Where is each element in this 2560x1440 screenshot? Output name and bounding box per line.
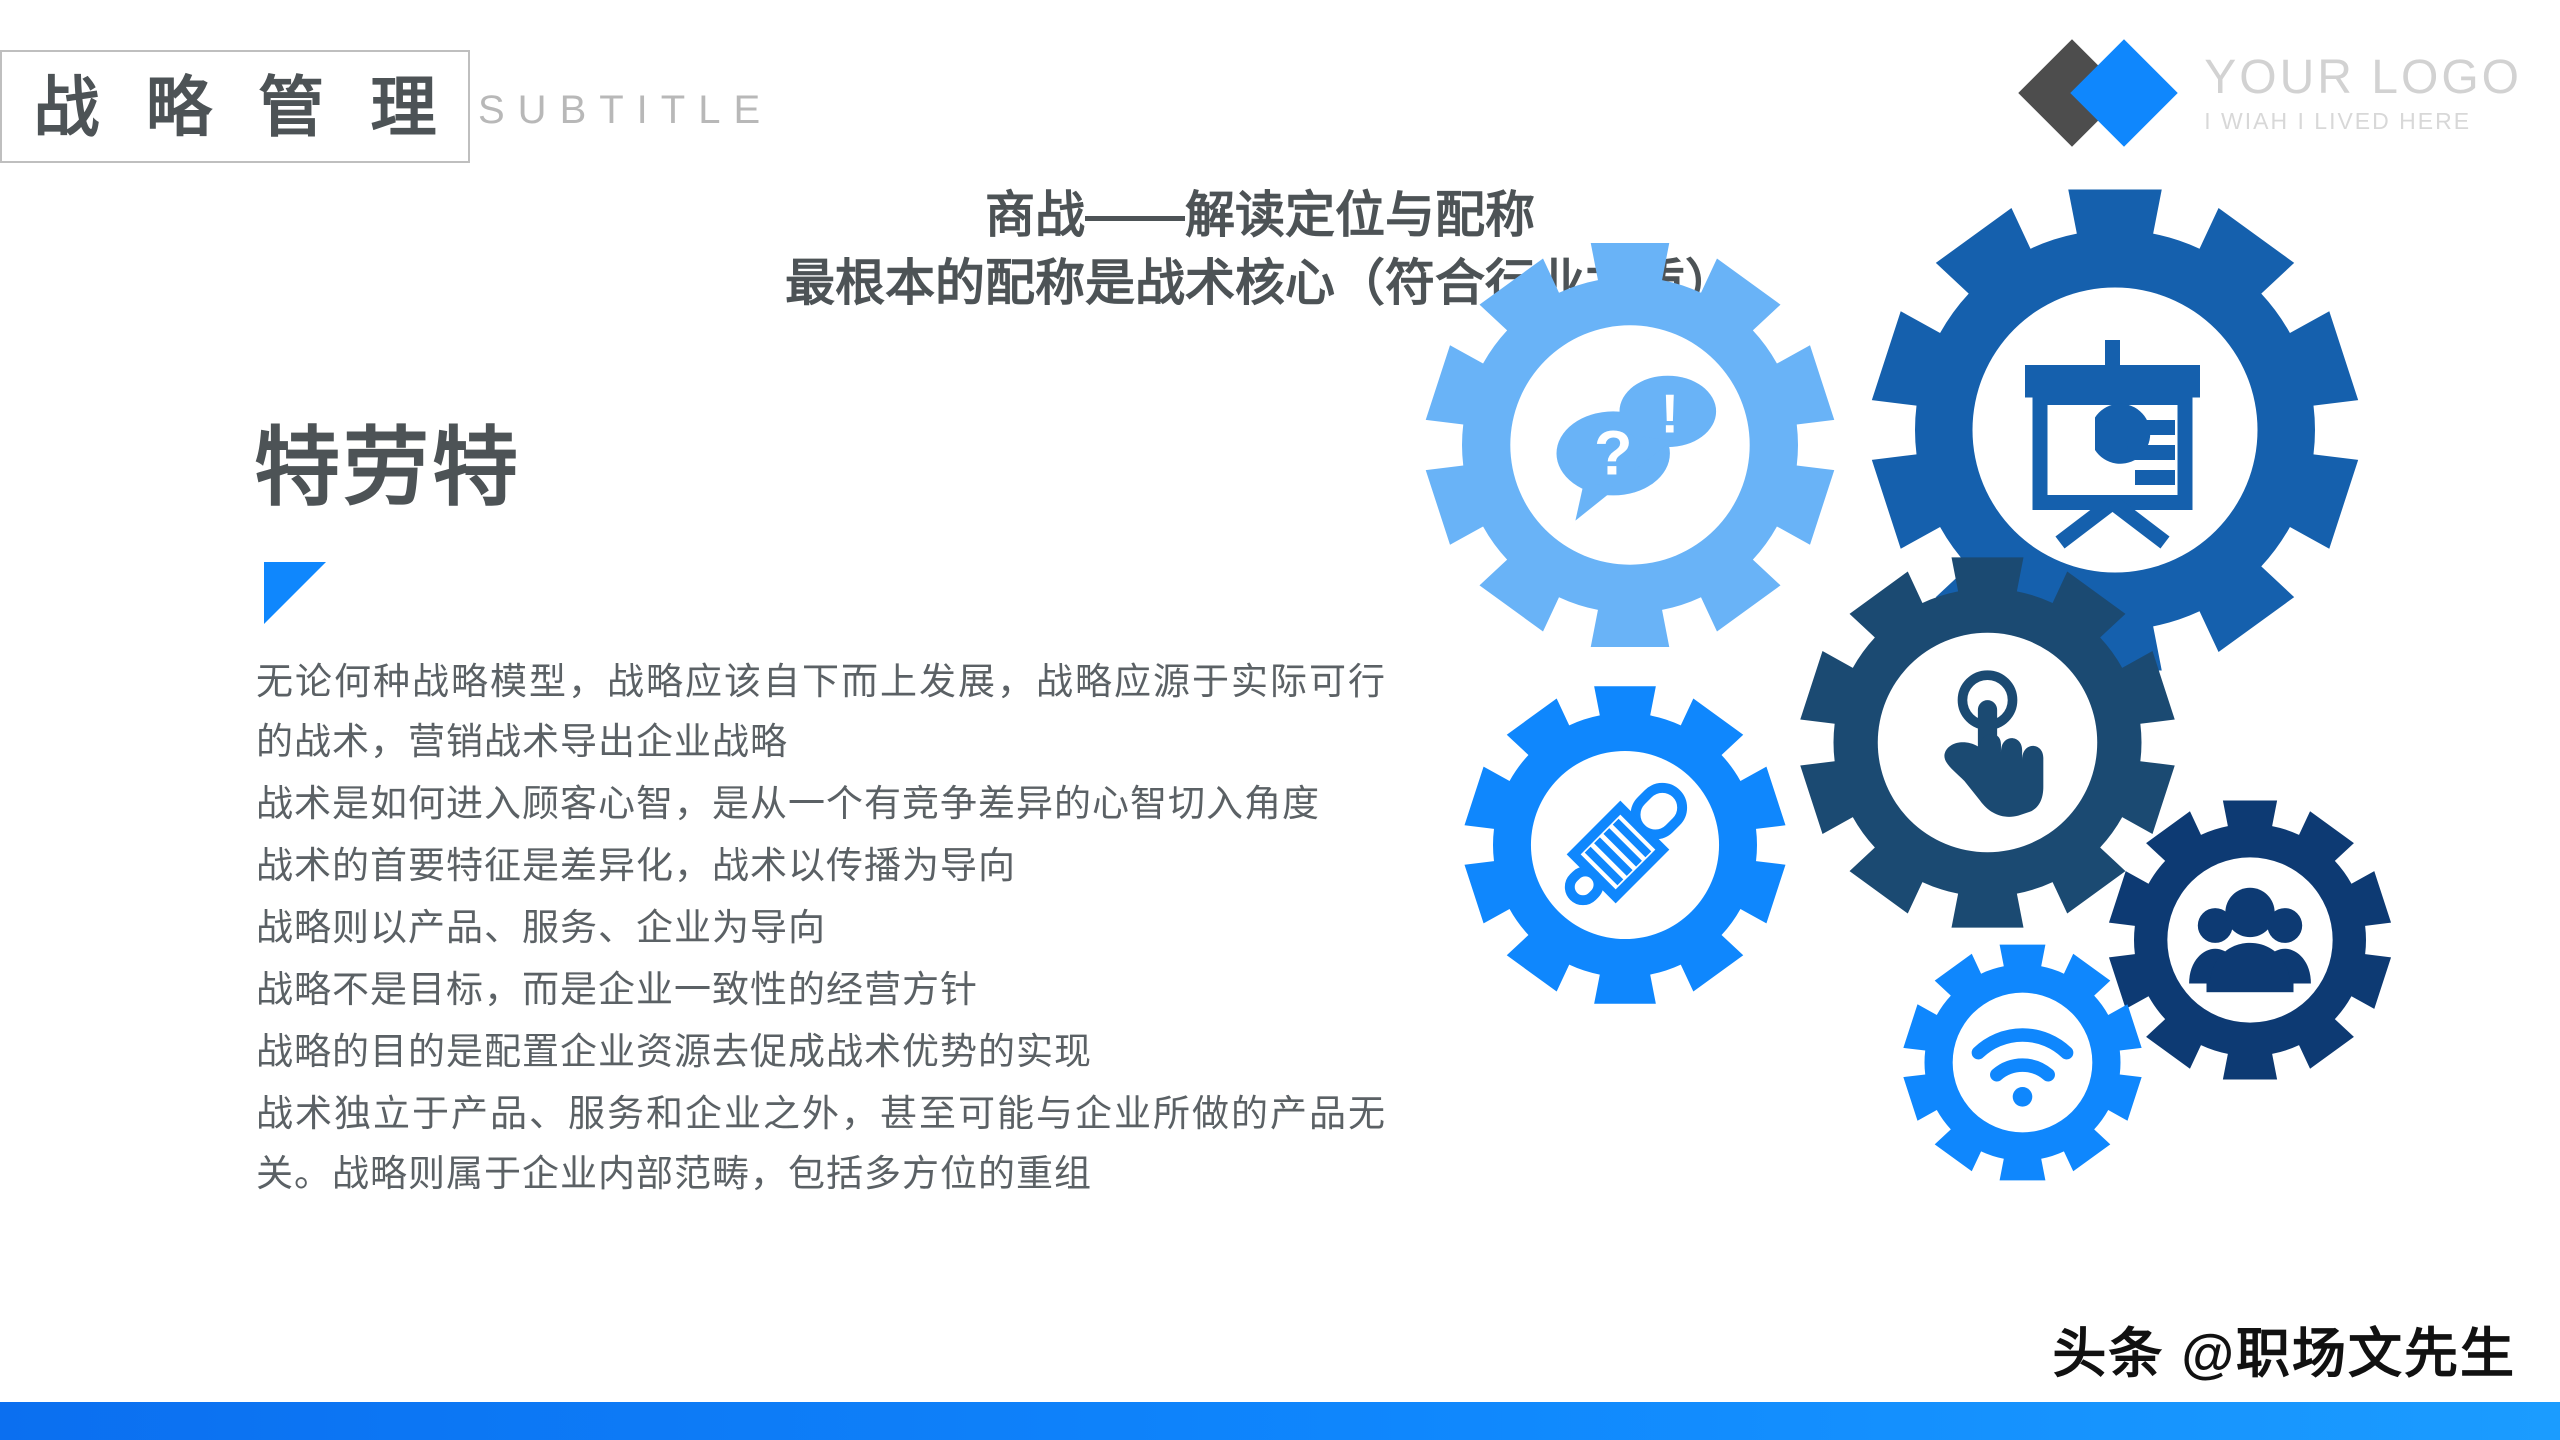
header-subtitle: SUBTITLE (478, 88, 773, 133)
logo-mark (2024, 38, 2204, 148)
logo-tagline: I WIAH I LIVED HERE (2204, 110, 2471, 133)
body-paragraph: 战术独立于产品、服务和企业之外，甚至可能与企业所做的产品无关。战略则属于企业内部… (256, 1084, 1386, 1204)
watermark: 头条 @职场文先生 (2052, 1309, 2516, 1388)
body-paragraph: 战略则以产品、服务、企业为导向 (256, 898, 1386, 958)
slide-canvas: 战 略 管 理 SUBTITLE YOUR LOGO I WIAH I LIVE… (0, 0, 2560, 1440)
body-paragraph: 战略不是目标，而是企业一致性的经营方针 (256, 960, 1386, 1020)
body-paragraph: 无论何种战略模型，战略应该自下而上发展，战略应源于实际可行的战术，营销战术导出企… (256, 652, 1386, 772)
gear-paintbrush (1460, 680, 1790, 1010)
body-paragraph: 战术是如何进入顾客心智，是从一个有竞争差异的心智切入角度 (256, 774, 1386, 834)
logo-text: YOUR LOGO I WIAH I LIVED HERE (2204, 54, 2522, 133)
gear-team (2105, 795, 2395, 1085)
gear-cluster-illustration: ?! (1400, 180, 2560, 1380)
logo-name: YOUR LOGO (2204, 54, 2522, 102)
gear-speech-bubbles: ?! (1420, 235, 1840, 655)
header-title-box: 战 略 管 理 (0, 50, 470, 163)
body-paragraph: 战术的首要特征是差异化，战术以传播为导向 (256, 836, 1386, 896)
svg-text:!: ! (1661, 383, 1679, 444)
bottom-accent-bar (0, 1402, 2560, 1440)
accent-triangle-icon (264, 562, 326, 624)
svg-text:?: ? (1594, 418, 1632, 488)
page-title: 战 略 管 理 (19, 74, 450, 140)
section-title: 特劳特 (254, 425, 521, 511)
logo: YOUR LOGO I WIAH I LIVED HERE (2024, 38, 2522, 148)
body-paragraph: 战略的目的是配置企业资源去促成战术优势的实现 (256, 1022, 1386, 1082)
gear-wifi (1900, 940, 2145, 1185)
body-text-block: 无论何种战略模型，战略应该自下而上发展，战略应源于实际可行的战术，营销战术导出企… (256, 652, 1386, 1205)
